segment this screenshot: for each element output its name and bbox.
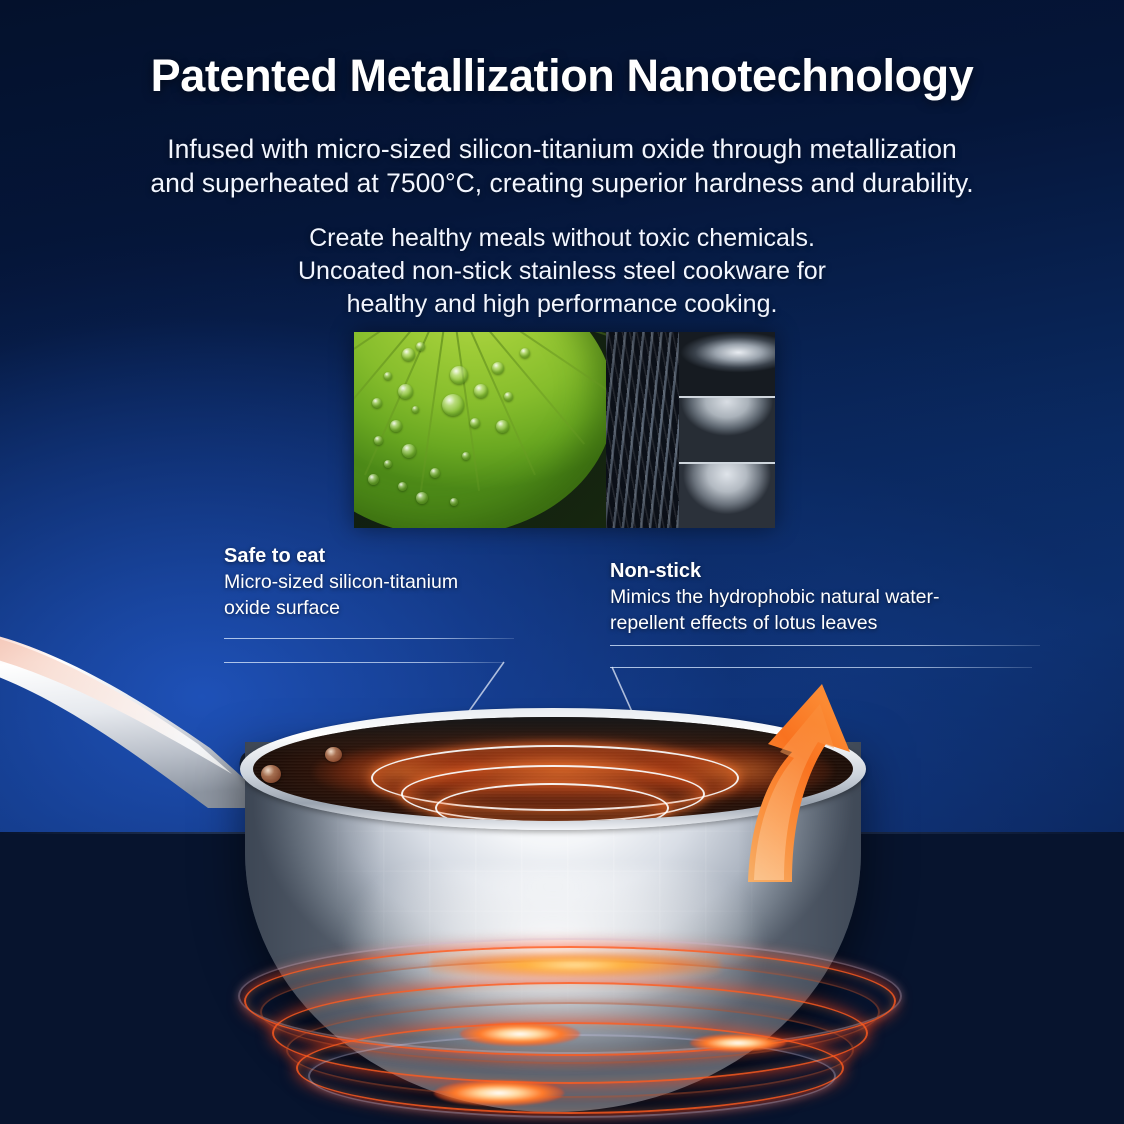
oil-droplet-1 [325,747,342,762]
oil-droplet-2 [261,765,281,783]
heat-rise-arrow [730,678,900,888]
pan-base-hotspot [430,952,720,978]
promo-graphic: Patented Metallization Nanotechnology In… [0,0,1124,1124]
frying-pan-illustration [0,600,1124,1124]
